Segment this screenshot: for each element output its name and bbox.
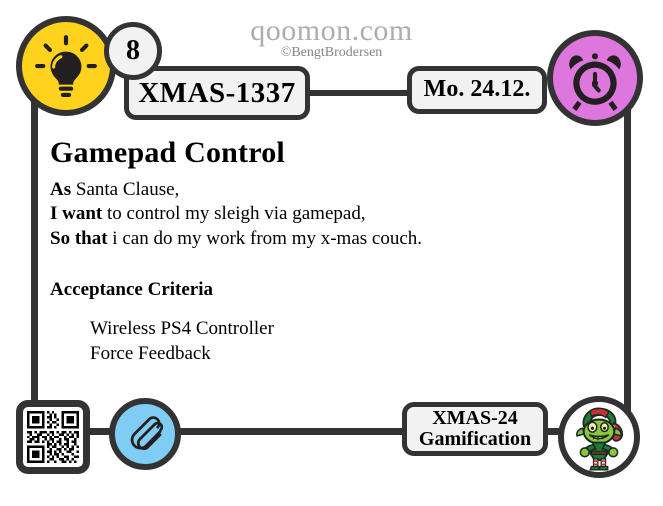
story-card: qoomon.com ©BengtBrodersen 8 XMAS-1337 M… bbox=[0, 0, 663, 506]
paperclip-icon[interactable] bbox=[109, 398, 181, 470]
story-sothat-label: So that bbox=[50, 228, 108, 249]
story-want-label: I want bbox=[50, 203, 102, 224]
connector-line-top-middle bbox=[295, 90, 415, 96]
epic-name-label: Gamification bbox=[419, 429, 531, 450]
list-item: Force Feedback bbox=[90, 342, 610, 367]
story-sothat-value: i can do my work from my x-mas couch. bbox=[108, 228, 422, 249]
list-item: Wireless PS4 Controller bbox=[90, 317, 610, 342]
due-date-tag[interactable]: Mo. 24.12. bbox=[407, 66, 547, 114]
elf-avatar-icon[interactable] bbox=[558, 396, 640, 478]
epic-id-label: XMAS-24 bbox=[432, 408, 518, 429]
connector-line-right bbox=[624, 104, 631, 422]
epic-tag[interactable]: XMAS-24 Gamification bbox=[402, 402, 548, 456]
story-want-line: I want to control my sleigh via gamepad, bbox=[50, 202, 610, 226]
story-want-value: to control my sleigh via gamepad, bbox=[102, 203, 365, 224]
lightbulb-icon[interactable] bbox=[16, 16, 116, 116]
story-points-badge[interactable]: 8 bbox=[104, 22, 162, 80]
story-id-tag[interactable]: XMAS-1337 bbox=[124, 66, 310, 120]
story-points-value: 8 bbox=[126, 35, 140, 67]
connector-line-left bbox=[31, 100, 38, 412]
connector-line-bottom-middle bbox=[160, 428, 410, 435]
story-id-label: XMAS-1337 bbox=[138, 78, 296, 108]
due-date-label: Mo. 24.12. bbox=[424, 77, 531, 102]
story-role-label: As bbox=[50, 179, 71, 200]
qr-code-icon[interactable] bbox=[16, 400, 90, 474]
page-title: Gamepad Control bbox=[50, 136, 610, 170]
story-role-line: As Santa Clause, bbox=[50, 178, 610, 202]
acceptance-criteria-heading: Acceptance Criteria bbox=[50, 279, 610, 301]
story-role-value: Santa Clause, bbox=[71, 179, 179, 200]
alarm-clock-icon[interactable] bbox=[547, 30, 643, 126]
acceptance-criteria-list: Wireless PS4 Controller Force Feedback bbox=[50, 317, 610, 366]
story-body: Gamepad Control As Santa Clause, I want … bbox=[50, 136, 610, 366]
story-sothat-line: So that i can do my work from my x-mas c… bbox=[50, 227, 610, 251]
